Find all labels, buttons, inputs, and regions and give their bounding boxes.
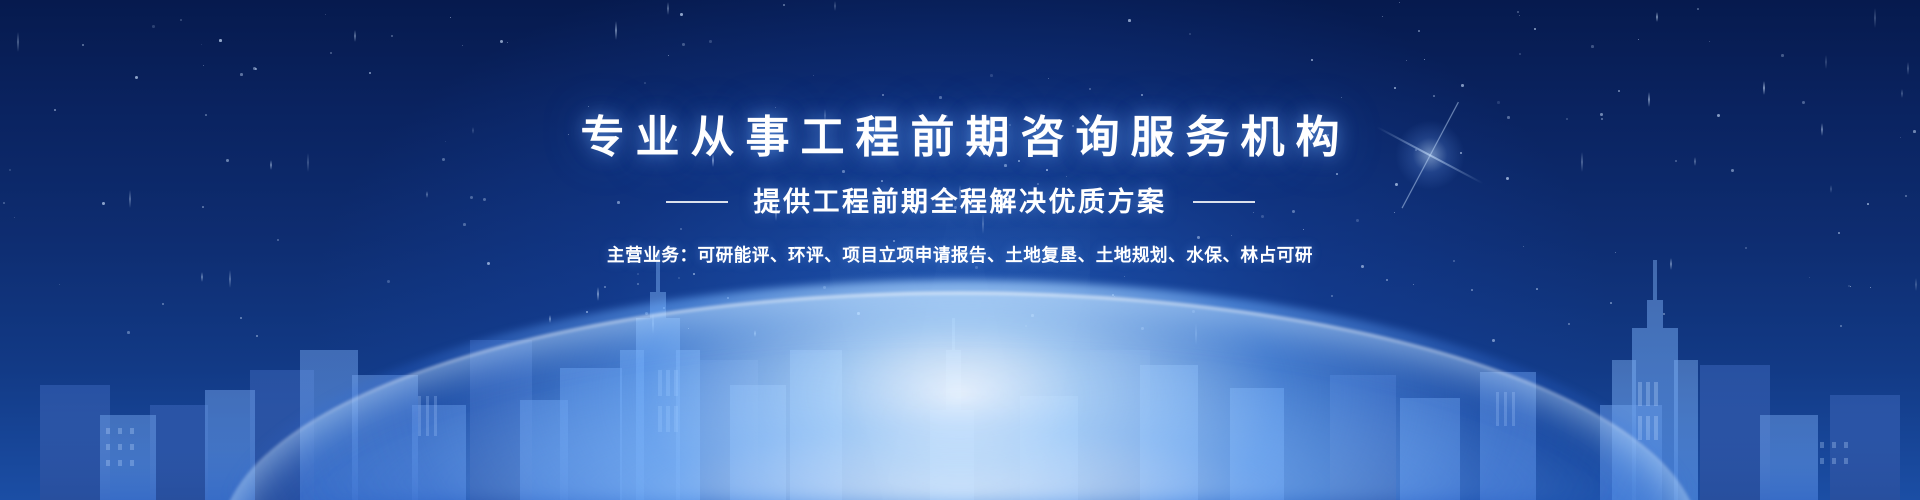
page-title: 专业从事工程前期咨询服务机构 (0, 0, 1920, 163)
hero-banner: 专业从事工程前期咨询服务机构 提供工程前期全程解决优质方案 主营业务：可研能评、… (0, 0, 1920, 500)
rule-left-icon (666, 201, 728, 203)
banner-content: 专业从事工程前期咨询服务机构 提供工程前期全程解决优质方案 主营业务：可研能评、… (0, 0, 1920, 267)
main-services-text: 主营业务：可研能评、环评、项目立项申请报告、土地复垦、土地规划、水保、林占可研 (0, 243, 1920, 267)
subtitle-row: 提供工程前期全程解决优质方案 (0, 185, 1920, 219)
rule-right-icon (1193, 201, 1255, 203)
banner-subtitle: 提供工程前期全程解决优质方案 (754, 185, 1167, 219)
